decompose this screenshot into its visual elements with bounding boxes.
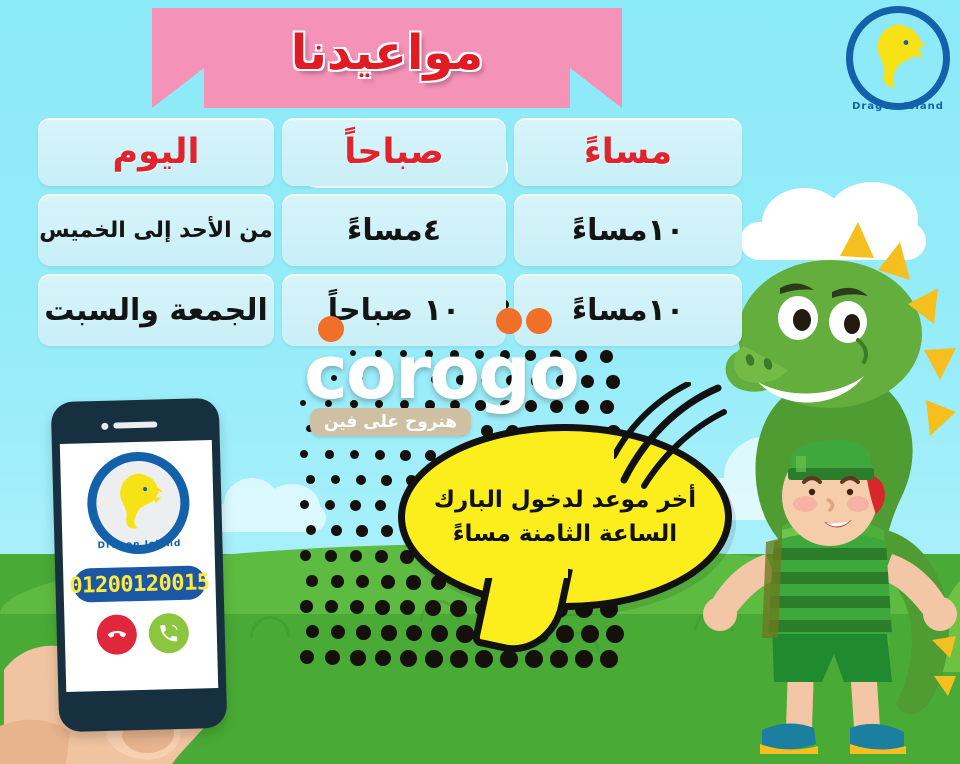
row1-day-value: الجمعة والسبت [44,293,268,328]
row0-day-value: من الأحد إلى الخميس [39,218,272,243]
phone-dragon-logo: Dragon Island [86,451,191,556]
poster-canvas: مواعيدنا Dragon Island مساءً صباحاً اليو… [0,0,960,764]
dragon-island-logo: Dragon Island [846,6,950,110]
watermark-tagline: هنروح على فين [310,408,471,436]
schedule-table: مساءً صباحاً اليوم ١٠مساءً ٤مساءً من الأ… [36,118,742,354]
watermark: corogo هنروح على فين [304,330,644,440]
table-row: ١٠مساءً ٤مساءً من الأحد إلى الخميس [36,194,742,266]
phone-camera [101,423,108,430]
page-title: مواعيدنا [152,8,622,108]
watermark-dot-3 [526,308,552,334]
row0-evening-value: ١٠مساءً [572,213,684,248]
title-ribbon: مواعيدنا [152,8,622,108]
row0-morning-value: ٤مساءً [347,213,441,248]
header-label-morning: صباحاً [344,132,444,172]
smartphone: Dragon Island 01200120015 [51,398,228,732]
table-header-row: مساءً صباحاً اليوم [36,118,742,186]
phone-speaker [113,421,157,428]
dragon-icon [864,21,932,93]
logo-brand-text: Dragon Island [846,101,950,112]
watermark-text: corogo [304,330,644,416]
watermark-dot-2 [496,308,522,334]
header-label-evening: مساءً [584,132,672,172]
row0-evening-cell: ١٠مساءً [514,194,742,266]
header-label-day: اليوم [112,132,199,172]
notice-line-2: الساعة الثامنة مساءً [453,517,677,552]
header-cell-day: اليوم [38,118,274,186]
watermark-dot-1 [318,316,344,342]
row1-morning-value: ١٠ صباحاً [328,293,460,328]
call-buttons [94,613,189,655]
boy-character [700,438,960,764]
phone-logo-brand-text: Dragon Island [88,539,190,552]
row0-morning-cell: ٤مساءً [282,194,506,266]
row0-day-cell: من الأحد إلى الخميس [38,194,274,266]
phone-hangup-icon[interactable] [96,614,137,655]
header-cell-evening: مساءً [514,118,742,186]
header-cell-morning: صباحاً [282,118,506,186]
phone-call-icon[interactable] [148,613,189,654]
phone-number: 01200120015 [73,565,206,602]
dragon-icon [107,468,169,536]
phone-screen: Dragon Island 01200120015 [60,440,218,692]
row1-evening-value: ١٠مساءً [572,293,684,328]
speech-bubble-tail-join [478,548,568,578]
row1-day-cell: الجمعة والسبت [38,274,274,346]
